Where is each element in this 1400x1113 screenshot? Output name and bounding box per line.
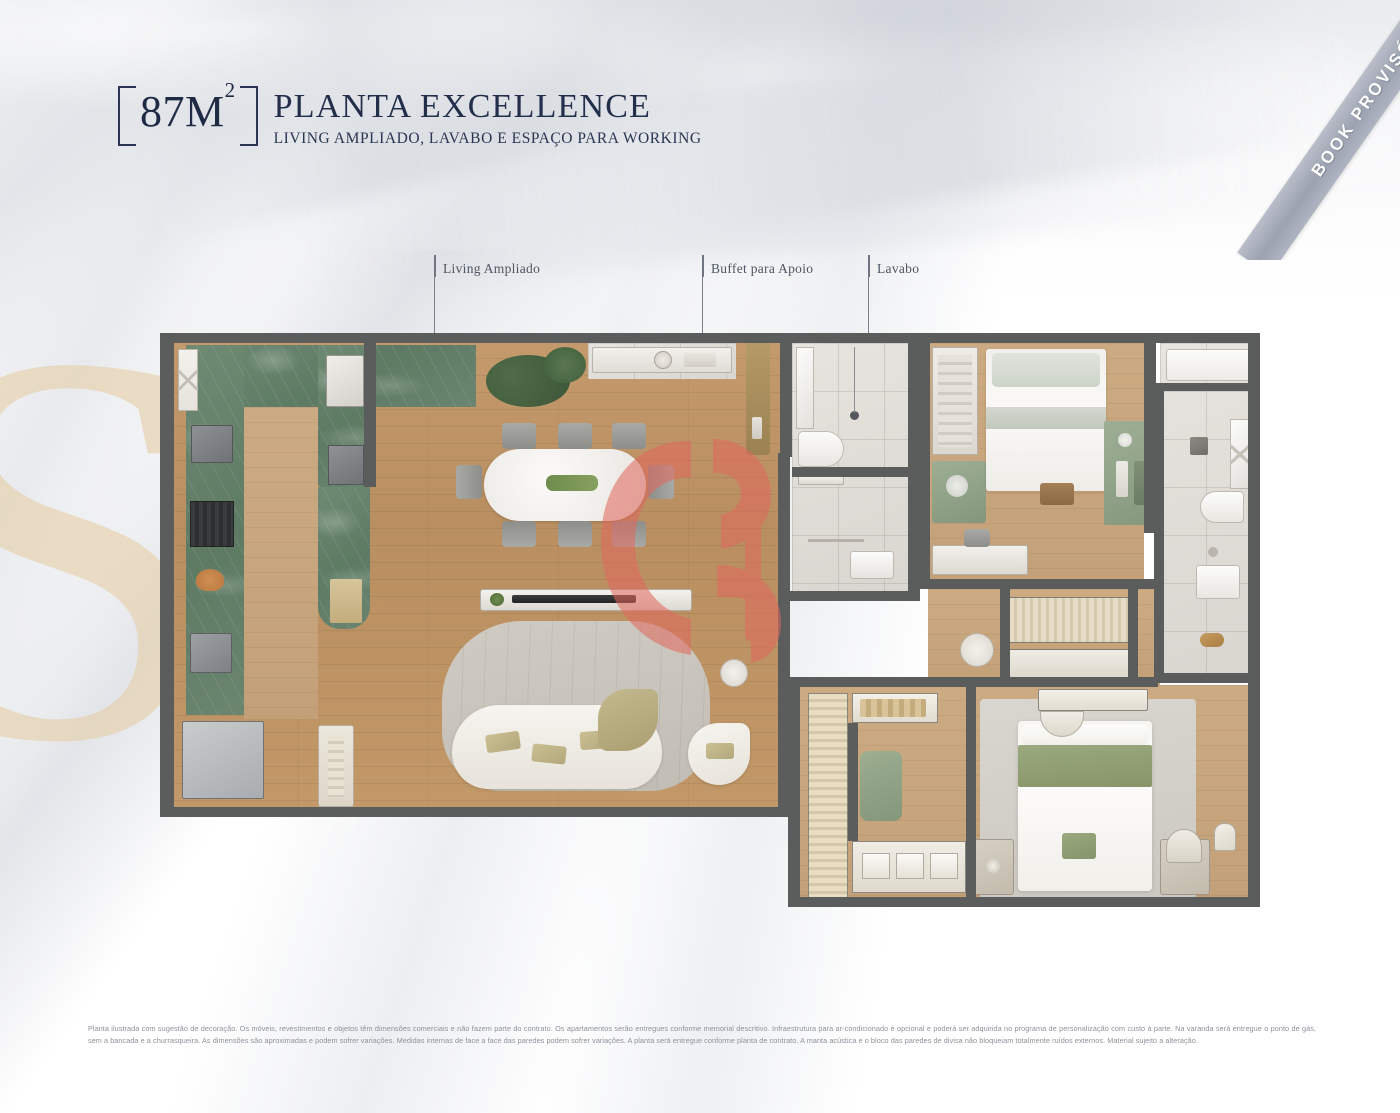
suite-closet-items bbox=[860, 699, 926, 717]
suite-drawer bbox=[930, 853, 958, 879]
callout-label: Lavabo bbox=[877, 261, 919, 277]
pendant-cord bbox=[854, 347, 855, 413]
suite-nightstand-lamp bbox=[986, 859, 1000, 873]
wall-exterior-top bbox=[160, 333, 1260, 343]
dining-centerpiece bbox=[546, 475, 598, 491]
wall-lavabo-mid bbox=[792, 467, 910, 477]
suite-drawer bbox=[862, 853, 890, 879]
footer-disclaimer: Planta ilustrada com sugestão de decoraç… bbox=[88, 1023, 1316, 1048]
wall-lavabo-bottom bbox=[780, 591, 920, 601]
bedroom1-bedrunner bbox=[986, 407, 1106, 429]
side-table bbox=[720, 659, 748, 687]
dining-chair bbox=[612, 521, 646, 547]
suite-wardrobe bbox=[808, 693, 848, 899]
bedroom1-sage-detail bbox=[946, 475, 968, 497]
area-value: 87M2 bbox=[140, 90, 236, 134]
bedroom1-pillows bbox=[992, 353, 1100, 387]
plant-small bbox=[544, 347, 586, 383]
tv-screen bbox=[512, 595, 636, 603]
wall-closet-left bbox=[1000, 589, 1010, 685]
bath-mirror-cross bbox=[1230, 419, 1250, 489]
utensil-rack-icon bbox=[330, 579, 362, 623]
dishwasher-icon bbox=[328, 445, 364, 485]
dining-chair bbox=[502, 423, 536, 449]
wall-exterior-left bbox=[160, 333, 174, 817]
armchair-cushion bbox=[706, 743, 734, 759]
console-plant bbox=[490, 593, 504, 606]
footer-text: Planta ilustrada com sugestão de decoraç… bbox=[88, 1023, 1316, 1048]
ribbon-label: BOOK PROVISÓRIO bbox=[1308, 3, 1400, 180]
bedroom1-desk bbox=[932, 545, 1028, 575]
dining-chair bbox=[456, 465, 482, 499]
wall-banheiro-top-div bbox=[1156, 383, 1250, 391]
console-bench-detail bbox=[328, 735, 344, 797]
suite-bed-cushion bbox=[1062, 833, 1096, 859]
dining-chair bbox=[502, 521, 536, 547]
bath-sink-icon bbox=[1196, 565, 1240, 599]
page-title: PLANTA EXCELLENCE bbox=[274, 90, 702, 125]
wall-varanda-ledge bbox=[460, 807, 790, 817]
suite-drawer bbox=[896, 853, 924, 879]
bath-toilet-icon bbox=[1200, 491, 1244, 523]
callout-stem bbox=[702, 255, 704, 277]
page-background: S BOOK PROVISÓRIO 87M2 PLANTA EXCELLENCE… bbox=[0, 0, 1400, 1113]
page-header: 87M2 PLANTA EXCELLENCE LIVING AMPLIADO, … bbox=[118, 86, 702, 148]
sink-icon bbox=[190, 633, 232, 673]
bedroom1-dresser-drawer bbox=[1116, 461, 1128, 497]
bath-tub-counter bbox=[1166, 349, 1250, 381]
wall-suite-closet-inner bbox=[848, 723, 858, 841]
microwave-icon bbox=[326, 355, 364, 407]
oven-icon bbox=[190, 501, 234, 547]
suite-bench-top bbox=[1038, 689, 1148, 711]
dining-chair bbox=[558, 423, 592, 449]
callout-label: Buffet para Apoio bbox=[711, 261, 813, 277]
bath-accessory bbox=[1200, 633, 1224, 647]
refrigerator-icon bbox=[182, 721, 264, 799]
callout-label: Living Ampliado bbox=[443, 261, 540, 277]
wall-lavabo-left bbox=[780, 333, 792, 457]
kitchen-window-cross bbox=[178, 349, 198, 411]
bedroom1-bench bbox=[1040, 483, 1074, 505]
kitchen-plant bbox=[196, 569, 224, 591]
dining-chair bbox=[612, 423, 646, 449]
wall-kitchen-divider bbox=[364, 333, 376, 487]
bedroom1-chair bbox=[964, 529, 990, 547]
wall-suite-left bbox=[788, 677, 800, 907]
wall-exterior-bottom-right bbox=[788, 897, 1260, 907]
bedroom1-closet-rail bbox=[938, 355, 972, 447]
dining-chair bbox=[648, 465, 674, 499]
suite-bed-pillows bbox=[1022, 725, 1148, 745]
wall-suite-closet-divider bbox=[966, 685, 976, 907]
callout-stem bbox=[868, 255, 870, 277]
closet-shelving bbox=[1008, 597, 1132, 643]
kitchen-floor bbox=[244, 407, 318, 719]
bedroom1-dresser-knob bbox=[1118, 433, 1132, 447]
suite-handbag bbox=[1214, 823, 1236, 851]
callout-stem bbox=[434, 255, 436, 277]
towel-bar-icon bbox=[808, 539, 864, 542]
corridor-stool bbox=[960, 633, 994, 667]
buffet-tray-icon bbox=[684, 353, 716, 367]
page-subtitle: LIVING AMPLIADO, LAVABO E ESPAÇO PARA WO… bbox=[274, 130, 702, 148]
dining-chair bbox=[558, 521, 592, 547]
lavabo-sink bbox=[850, 551, 894, 579]
wall-exterior-right bbox=[1248, 333, 1260, 907]
silk-fold bbox=[295, 35, 1356, 296]
corner-ribbon: BOOK PROVISÓRIO bbox=[1140, 0, 1400, 260]
bath-niche bbox=[1190, 437, 1208, 455]
entry-cabinet-handle bbox=[752, 417, 762, 439]
cooktop-icon bbox=[191, 425, 233, 463]
toilet-icon bbox=[798, 431, 844, 467]
floor-plan bbox=[160, 333, 1258, 916]
wall-banheiro-left bbox=[1154, 383, 1164, 683]
buffet-bowl-icon bbox=[654, 351, 672, 369]
wall-bedroom1-bottom bbox=[920, 579, 1156, 589]
wall-closet-right bbox=[1128, 589, 1138, 685]
wall-banheiro-bottom bbox=[1154, 673, 1260, 683]
area-badge: 87M2 bbox=[118, 86, 258, 144]
suite-bed-throw bbox=[1018, 745, 1152, 787]
lavabo-mirror bbox=[796, 347, 814, 429]
sofa-cushion bbox=[531, 743, 567, 764]
silk-fold bbox=[624, 0, 1356, 243]
closet-drawer bbox=[1008, 649, 1132, 679]
wall-bedroom1-left bbox=[920, 333, 930, 589]
suite-sage-sofa bbox=[860, 751, 902, 821]
suite-chair bbox=[1166, 829, 1202, 863]
wall-suite-top bbox=[788, 677, 968, 687]
bath-faucet-icon bbox=[1208, 547, 1218, 557]
